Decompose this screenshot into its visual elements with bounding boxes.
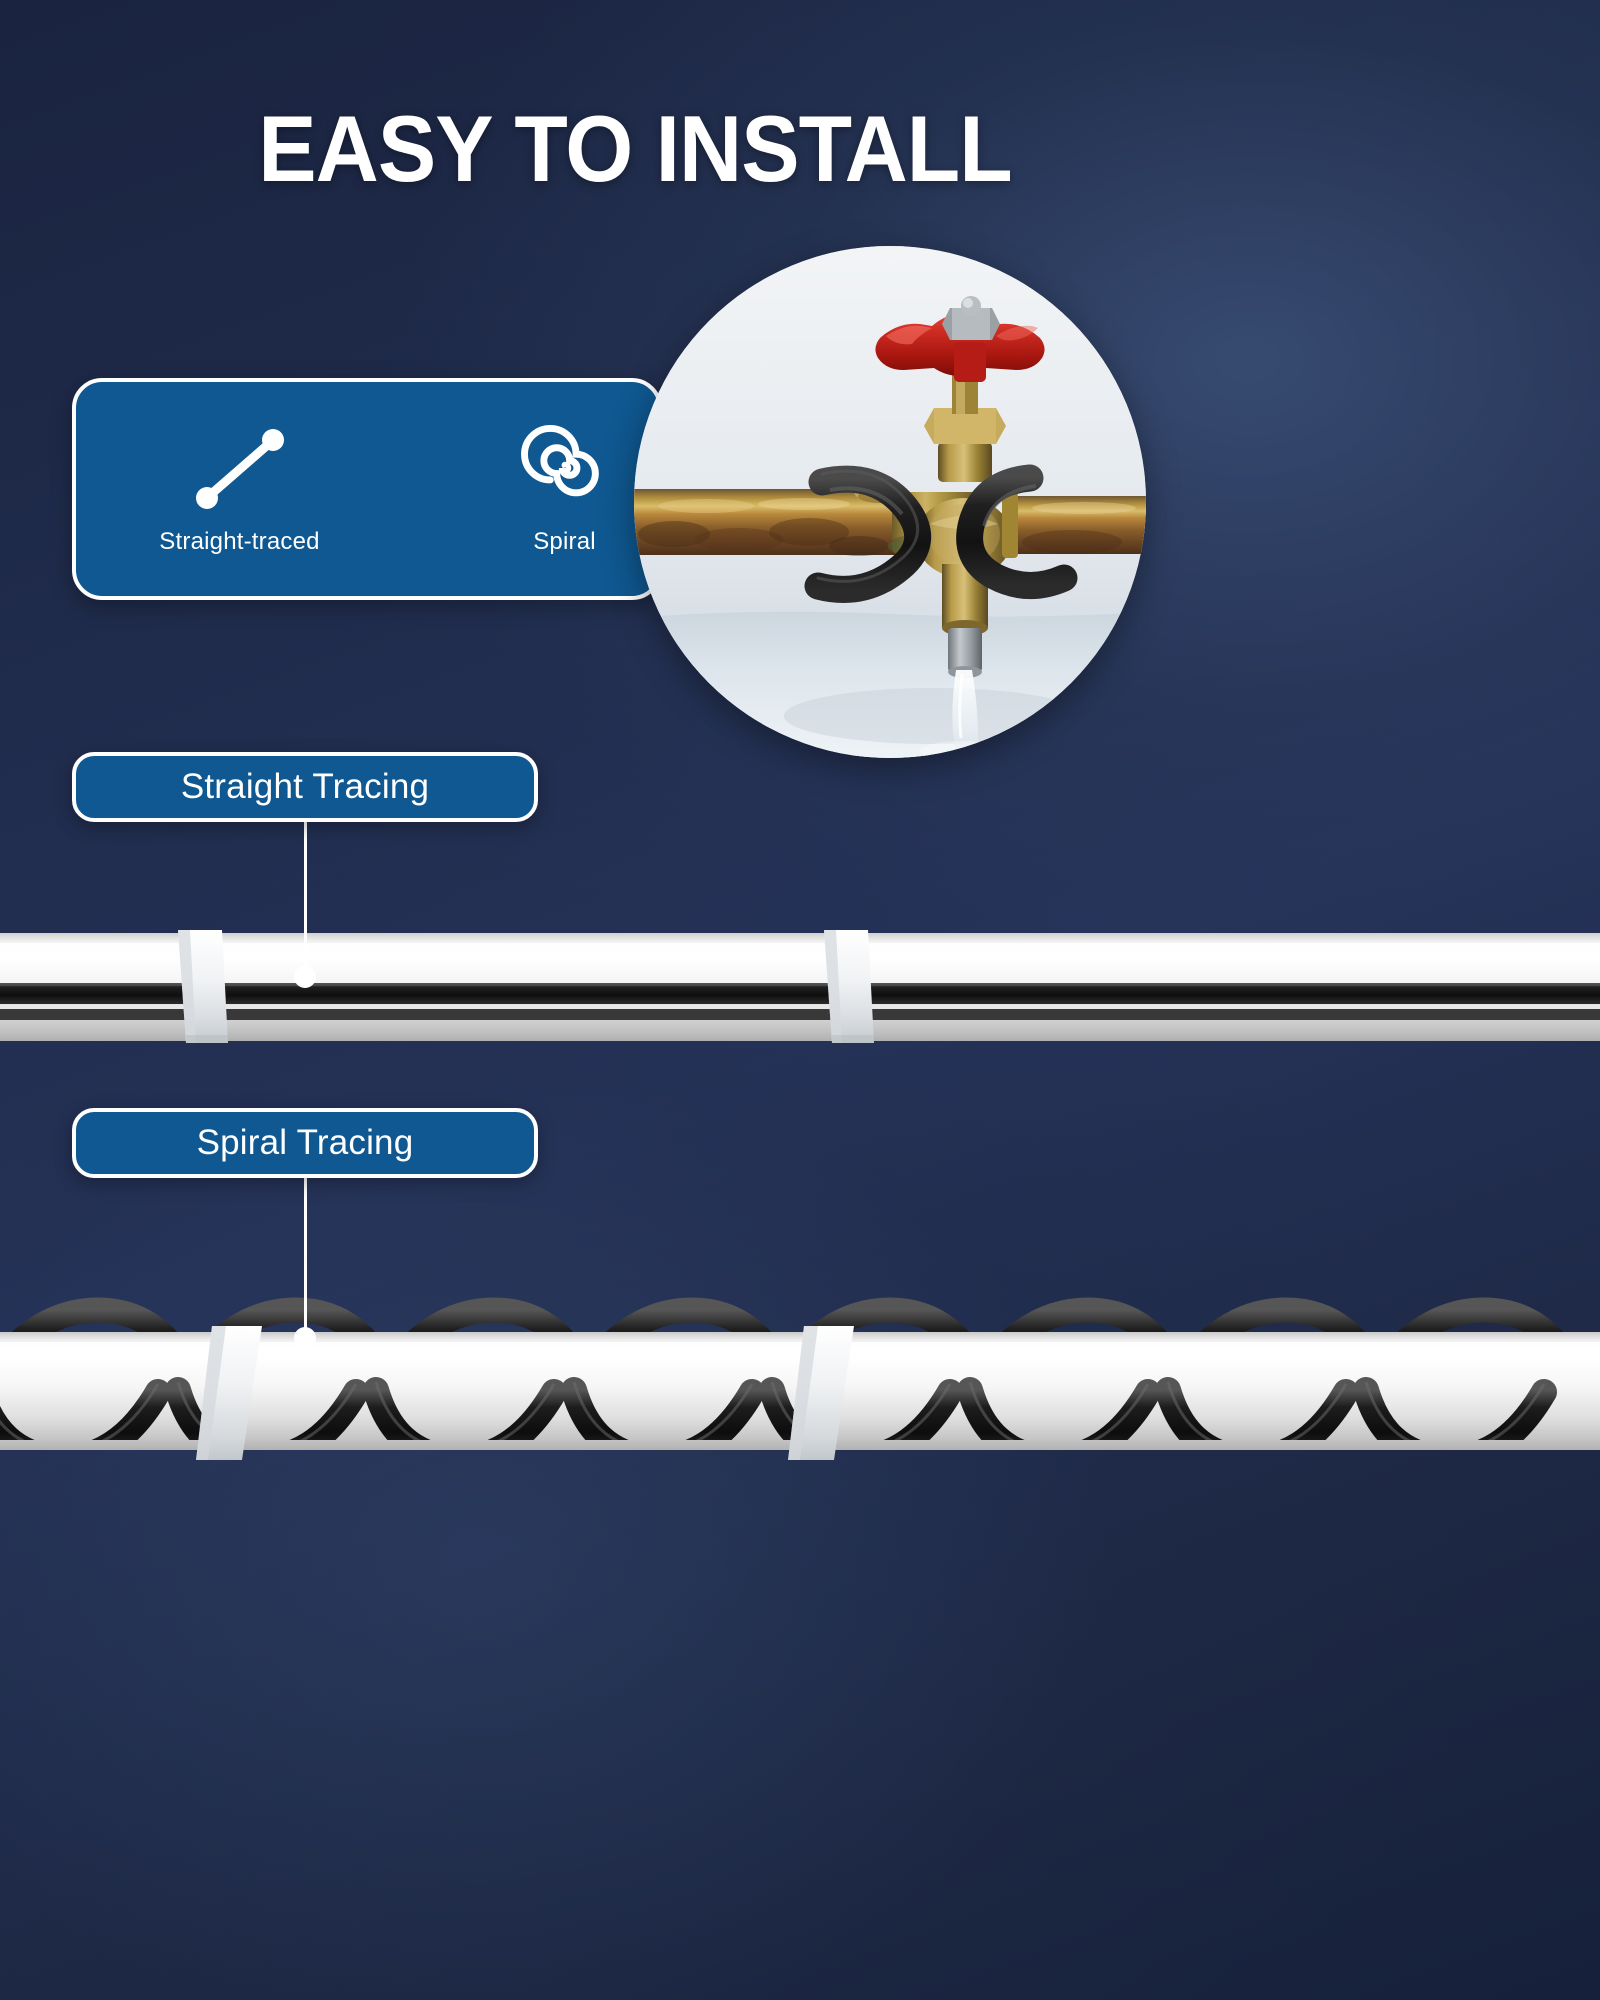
spiral-traced-pipe-diagram	[0, 1270, 1600, 1460]
straight-line-icon	[187, 422, 293, 514]
feature-panel: Straight-traced Spiral	[72, 378, 662, 600]
callout-label: Spiral Tracing	[197, 1123, 414, 1163]
callout-label: Straight Tracing	[181, 767, 429, 807]
leader-dot-spiral	[294, 1327, 316, 1349]
poster-canvas: EASY TO INSTALL Straight-traced Spiral	[0, 0, 1600, 2000]
leader-line-spiral	[304, 1178, 307, 1338]
feature-label: Spiral	[533, 528, 596, 556]
feature-item-spiral: Spiral	[477, 422, 652, 556]
page-title: EASY TO INSTALL	[44, 95, 1225, 203]
feature-item-straight-traced: Straight-traced	[152, 422, 327, 556]
feature-label: Straight-traced	[159, 528, 319, 556]
frozen-valve-with-heat-trace-cable-photo	[634, 246, 1146, 758]
leader-line-straight	[304, 822, 307, 977]
spiral-icon	[515, 422, 615, 514]
callout-straight-tracing: Straight Tracing	[72, 752, 538, 822]
callout-spiral-tracing: Spiral Tracing	[72, 1108, 538, 1178]
leader-dot-straight	[294, 966, 316, 988]
straight-traced-pipe-diagram	[0, 925, 1600, 1050]
